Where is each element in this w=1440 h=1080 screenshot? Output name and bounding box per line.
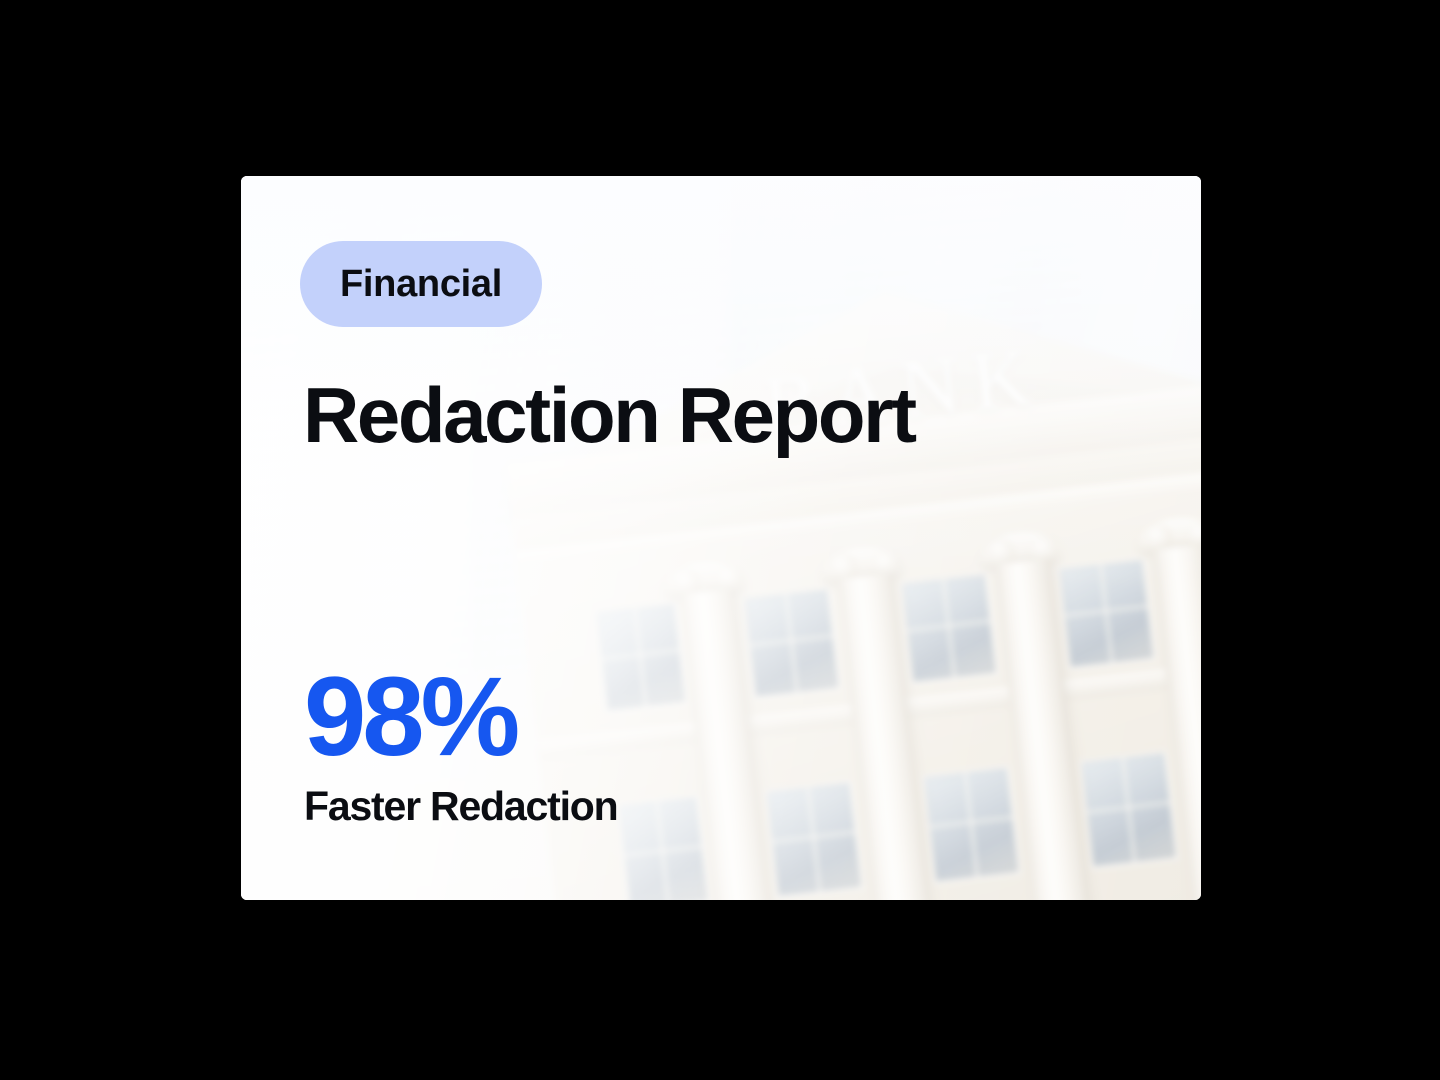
stat-value: 98% xyxy=(304,664,617,769)
category-badge[interactable]: Financial xyxy=(300,241,542,327)
redaction-report-card[interactable]: BANK xyxy=(241,176,1201,900)
card-content: Financial Redaction Report 98% Faster Re… xyxy=(241,176,1201,900)
stat-block: 98% Faster Redaction xyxy=(304,664,617,830)
card-title: Redaction Report xyxy=(303,376,915,454)
page-root: BANK xyxy=(0,0,1440,1080)
stat-label: Faster Redaction xyxy=(304,783,617,830)
